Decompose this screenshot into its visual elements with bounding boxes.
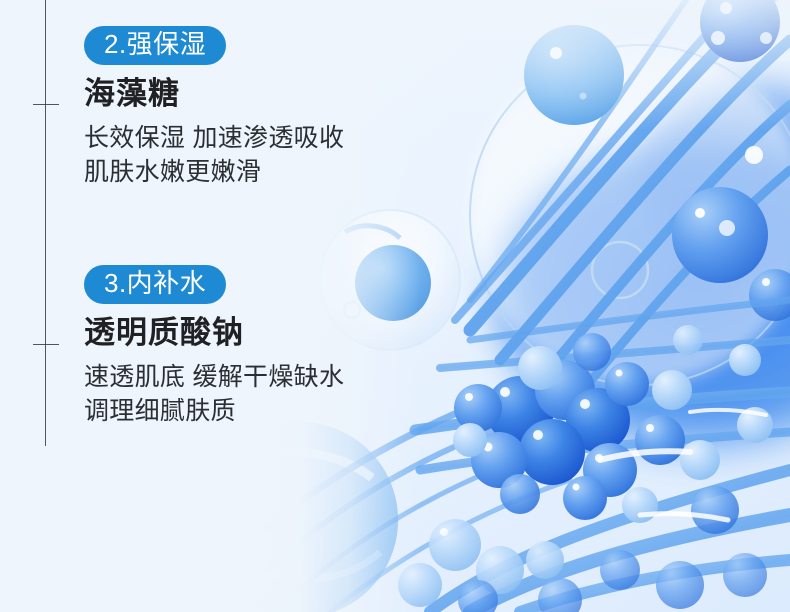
- section-description-1-line-1: 长效保湿 加速渗透吸收: [84, 121, 344, 156]
- section-description-1-line-2: 肌肤水嫩更嫩滑: [84, 155, 344, 190]
- section-description-2: 速透肌底 缓解干燥缺水 调理细腻肤质: [84, 360, 344, 429]
- section-block-1: 2.强保湿 海藻糖 长效保湿 加速渗透吸收 肌肤水嫩更嫩滑: [84, 26, 344, 190]
- section-description-2-line-1: 速透肌底 缓解干燥缺水: [84, 360, 344, 395]
- tick-mark-1: [33, 104, 59, 105]
- section-badge-1: 2.强保湿: [84, 26, 226, 65]
- section-description-1: 长效保湿 加速渗透吸收 肌肤水嫩更嫩滑: [84, 121, 344, 190]
- poster-canvas: 2.强保湿 海藻糖 长效保湿 加速渗透吸收 肌肤水嫩更嫩滑 3.内补水 透明质酸…: [0, 0, 790, 612]
- vertical-rule: [45, 0, 46, 446]
- section-block-2: 3.内补水 透明质酸钠 速透肌底 缓解干燥缺水 调理细腻肤质: [84, 265, 344, 429]
- content-layer: 2.强保湿 海藻糖 长效保湿 加速渗透吸收 肌肤水嫩更嫩滑 3.内补水 透明质酸…: [0, 0, 790, 612]
- section-title-1: 海藻糖: [84, 77, 344, 112]
- section-title-2: 透明质酸钠: [84, 316, 344, 351]
- section-badge-2: 3.内补水: [84, 265, 226, 304]
- section-description-2-line-2: 调理细腻肤质: [84, 394, 344, 429]
- tick-mark-2: [33, 344, 59, 345]
